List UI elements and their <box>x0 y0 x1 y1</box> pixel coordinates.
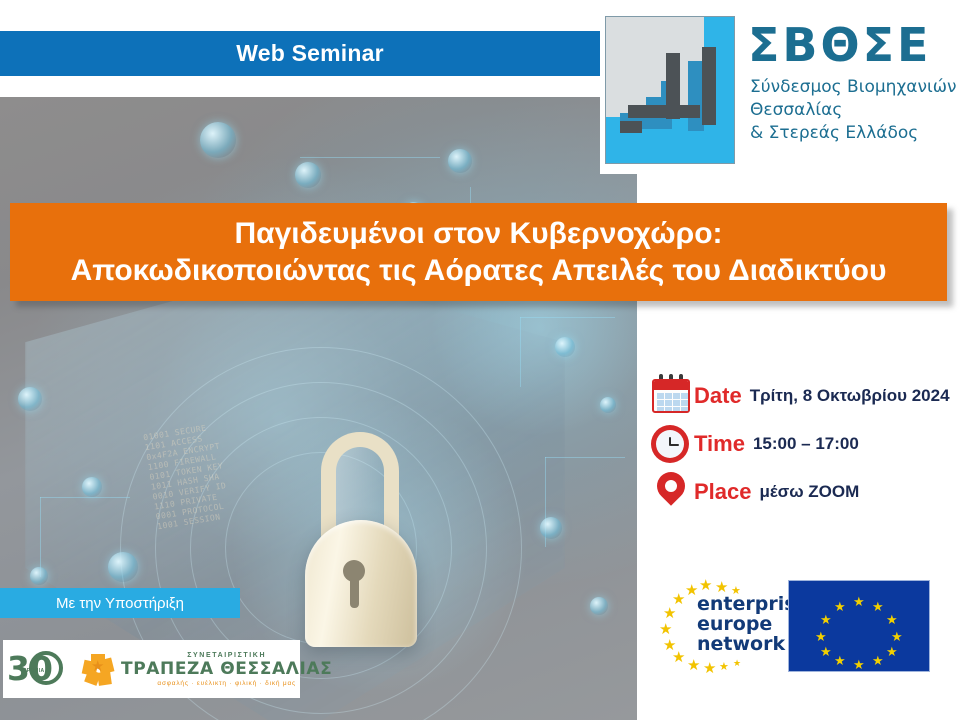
clock-hand-minute <box>670 444 679 446</box>
date-value: Τρίτη, 8 Οκτωβρίου 2024 <box>750 386 950 406</box>
een-star: ★ <box>703 661 716 676</box>
mark-bar <box>628 105 700 118</box>
eu-star: ★ <box>820 613 832 626</box>
padlock-body <box>305 520 417 647</box>
eu-star: ★ <box>886 645 898 658</box>
circuit-trace <box>40 497 130 498</box>
node-dot <box>590 597 608 615</box>
circuit-trace <box>300 157 440 158</box>
mark-bar <box>620 121 642 133</box>
time-value: 15:00 – 17:00 <box>753 434 859 454</box>
code-texture: 01001 SECURE 1101 ACCESS 0x4F2A ENCRYPT … <box>143 422 232 532</box>
een-star: ★ <box>663 606 676 621</box>
date-label: Date <box>694 383 742 409</box>
een-star: ★ <box>699 578 712 593</box>
sbthse-acronym: ΣΒΘΣΕ <box>748 18 931 72</box>
node-dot <box>18 387 42 411</box>
circuit-trace <box>520 317 615 318</box>
een-star: ★ <box>659 622 672 637</box>
title-banner: Παγιδευμένοι στον Κυβερνοχώρο: Αποκωδικο… <box>10 203 947 301</box>
eu-star: ★ <box>853 658 865 671</box>
circuit-trace <box>545 457 625 458</box>
support-band: Με την Υποστήριξη <box>0 588 240 618</box>
node-dot <box>448 149 472 173</box>
hero-image: 01001 SECURE 1101 ACCESS 0x4F2A ENCRYPT … <box>0 97 637 720</box>
web-seminar-label: Web Seminar <box>236 40 384 67</box>
calendar-header <box>654 381 688 390</box>
title-line-1: Παγιδευμένοι στον Κυβερνοχώρο: <box>234 215 722 252</box>
event-detail-row-time: Time 15:00 – 17:00 <box>648 420 958 468</box>
clock-body <box>651 425 689 463</box>
event-detail-row-place: Place μέσω ZOOM <box>648 468 958 516</box>
een-star: ★ <box>687 658 700 673</box>
eu-star: ★ <box>872 654 884 667</box>
sbthse-logo-mark <box>605 16 735 164</box>
sbthse-subtitle: Σύνδεσμος Βιομηχανιών Θεσσαλίας & Στερεά… <box>750 76 956 145</box>
calendar-grid <box>657 393 688 413</box>
bank-flower-icon: ★ <box>81 649 117 689</box>
anniversary-word: ΧΡΟΝΙΑ <box>23 668 45 674</box>
event-details: Date Τρίτη, 8 Οκτωβρίου 2024 Time 15:00 … <box>648 372 958 516</box>
seminar-poster: 01001 SECURE 1101 ACCESS 0x4F2A ENCRYPT … <box>0 0 960 720</box>
eu-star: ★ <box>834 600 846 613</box>
time-label: Time <box>694 431 745 457</box>
circuit-trace <box>520 317 521 387</box>
een-star: ★ <box>672 650 685 665</box>
place-value: μέσω ZOOM <box>760 482 860 502</box>
eu-star: ★ <box>834 654 846 667</box>
eu-star: ★ <box>872 600 884 613</box>
pin-hole <box>663 478 680 495</box>
eu-star: ★ <box>820 645 832 658</box>
mark-bar <box>666 53 680 119</box>
node-dot <box>30 567 48 585</box>
support-band-label: Με την Υποστήριξη <box>56 595 184 612</box>
een-star: ★ <box>719 660 729 675</box>
bank-line-main: ΤΡΑΠΕΖΑ ΘΕΣΣΑΛΙΑΣ <box>121 659 332 679</box>
anniversary-mark: 30 ΧΡΟΝΙΑ <box>7 647 69 691</box>
sbthse-subtitle-line2: Θεσσαλίας <box>750 99 956 122</box>
flower-star: ★ <box>91 659 106 674</box>
bank-logo-words: ΣΥΝΕΤΑΙΡΙΣΤΙΚΗ ΤΡΑΠΕΖΑ ΘΕΣΣΑΛΙΑΣ ασφαλής… <box>117 652 332 687</box>
node-dot <box>555 337 575 357</box>
node-dot <box>540 517 562 539</box>
eu-flag: ★ ★ ★ ★ ★ ★ ★ ★ ★ ★ ★ ★ <box>788 580 930 672</box>
place-label: Place <box>694 479 752 505</box>
bank-line-top: ΣΥΝΕΤΑΙΡΙΣΤΙΚΗ <box>121 652 332 659</box>
calendar-body <box>652 379 690 413</box>
web-seminar-banner: Web Seminar <box>0 31 620 76</box>
node-dot <box>600 397 616 413</box>
padlock-keyhole-slot <box>350 576 359 608</box>
sbthse-subtitle-line3: & Στερεάς Ελλάδος <box>750 122 956 145</box>
node-dot <box>295 162 321 188</box>
event-detail-row-date: Date Τρίτη, 8 Οκτωβρίου 2024 <box>648 372 958 420</box>
calendar-icon <box>648 374 694 418</box>
eu-star: ★ <box>815 630 827 643</box>
circuit-trace <box>40 497 41 577</box>
eu-star: ★ <box>886 613 898 626</box>
bank-logo: 30 ΧΡΟΝΙΑ ★ ΣΥΝΕΤΑΙΡΙΣΤΙΚΗ ΤΡΑΠΕΖΑ ΘΕΣΣΑ… <box>3 640 300 698</box>
een-star: ★ <box>733 656 741 671</box>
bank-tagline: ασφαλής · ευέλικτη · φιλική · δική μας <box>121 680 332 687</box>
mark-bar <box>702 47 716 125</box>
location-pin-icon <box>648 470 694 514</box>
eu-star: ★ <box>853 595 865 608</box>
sbthse-subtitle-line1: Σύνδεσμος Βιομηχανιών <box>750 76 956 99</box>
eu-star: ★ <box>891 630 903 643</box>
padlock-icon <box>295 432 425 647</box>
pin-body <box>651 466 691 506</box>
node-dot <box>200 122 236 158</box>
clock-face <box>656 430 684 458</box>
node-dot <box>108 552 138 582</box>
title-line-2: Αποκωδικοποιώντας τις Αόρατες Απειλές το… <box>71 252 887 289</box>
enterprise-europe-network-logo: ★ ★ ★ ★ ★ ★ ★ ★ ★ ★ ★ ★ ★ enterprise eur… <box>655 578 790 673</box>
clock-icon <box>648 422 694 466</box>
sbthse-logo: ΣΒΘΣΕ Σύνδεσμος Βιομηχανιών Θεσσαλίας & … <box>600 4 960 174</box>
node-dot <box>82 477 102 497</box>
